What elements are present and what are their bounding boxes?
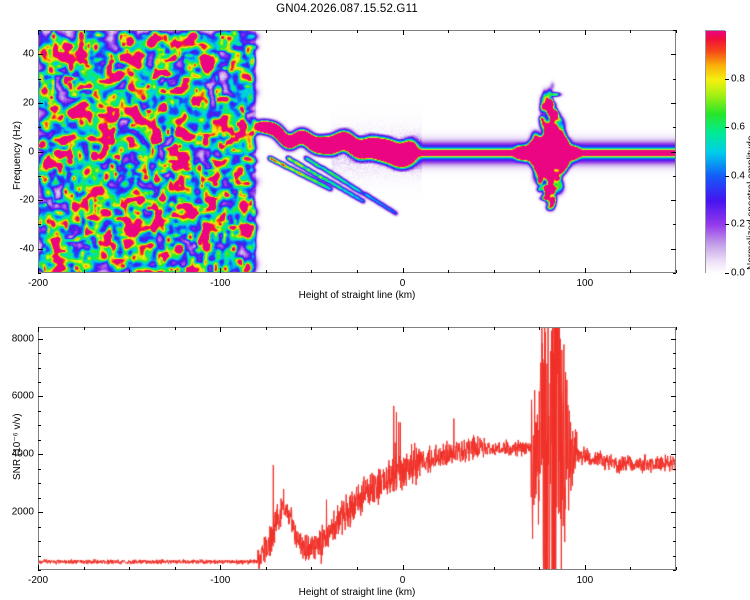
colorbar-tick (725, 127, 729, 128)
y-minor-tick (673, 30, 676, 31)
x-minor-tick (539, 270, 540, 273)
y-minor-tick (673, 527, 676, 528)
y-minor-tick (673, 541, 676, 542)
colorbar-tick (725, 176, 729, 177)
y-minor-tick (673, 469, 676, 470)
y-minor-tick (38, 469, 41, 470)
x-tick (585, 565, 586, 570)
y-tick (671, 339, 676, 340)
x-tick (220, 268, 221, 273)
x-tick-label: 100 (577, 278, 594, 289)
x-minor-tick (539, 567, 540, 570)
x-minor-tick (84, 30, 85, 33)
y-minor-tick (38, 527, 41, 528)
y-minor-tick (38, 440, 41, 441)
y-tick-label: 2000 (4, 507, 34, 518)
snr-plot-area (39, 328, 675, 569)
x-minor-tick (175, 30, 176, 33)
spectrogram-panel (38, 30, 676, 273)
y-minor-tick (673, 570, 676, 571)
x-minor-tick (630, 270, 631, 273)
x-minor-tick (539, 30, 540, 33)
colorbar-tick-label: 0.0 (731, 268, 745, 279)
y-tick (671, 249, 676, 250)
y-tick-label: -20 (4, 195, 34, 206)
y-minor-tick (673, 556, 676, 557)
colorbar-tick-label: 0.2 (731, 219, 745, 230)
figure-title: GN04.2026.087.15.52.G11 (0, 3, 694, 15)
y-tick (671, 454, 676, 455)
y-minor-tick (673, 425, 676, 426)
x-minor-tick (266, 270, 267, 273)
x-minor-tick (129, 30, 130, 33)
colorbar-tick (725, 273, 729, 274)
y-tick-label: 40 (4, 49, 34, 60)
x-minor-tick (266, 30, 267, 33)
y-minor-tick (673, 353, 676, 354)
y-tick-label: 6000 (4, 391, 34, 402)
x-minor-tick (175, 567, 176, 570)
x-minor-tick (630, 30, 631, 33)
x-minor-tick (129, 327, 130, 330)
y-minor-tick (673, 411, 676, 412)
y-minor-tick (673, 368, 676, 369)
y-minor-tick (38, 425, 41, 426)
snr-panel (38, 327, 676, 570)
y-minor-tick (38, 273, 41, 274)
y-tick-label: 8000 (4, 333, 34, 344)
y-minor-tick (38, 556, 41, 557)
x-tick (585, 30, 586, 35)
x-minor-tick (311, 30, 312, 33)
snr-xaxis-label: Height of straight line (km) (299, 587, 416, 598)
y-minor-tick (38, 483, 41, 484)
y-minor-tick (673, 79, 676, 80)
colorbar-tick (725, 79, 729, 80)
y-minor-tick (38, 368, 41, 369)
y-tick (38, 200, 43, 201)
colorbar-tick-label: 0.4 (731, 170, 745, 181)
x-minor-tick (175, 327, 176, 330)
x-minor-tick (448, 270, 449, 273)
y-tick (38, 454, 43, 455)
x-minor-tick (357, 567, 358, 570)
x-minor-tick (494, 30, 495, 33)
x-minor-tick (676, 327, 677, 330)
x-tick-label: -200 (28, 575, 48, 586)
x-minor-tick (676, 270, 677, 273)
x-tick (38, 327, 39, 332)
x-minor-tick (630, 327, 631, 330)
x-minor-tick (676, 567, 677, 570)
spectrogram-image (39, 31, 675, 272)
x-minor-tick (448, 327, 449, 330)
x-minor-tick (494, 327, 495, 330)
x-minor-tick (630, 567, 631, 570)
x-tick (403, 268, 404, 273)
y-minor-tick (38, 176, 41, 177)
x-minor-tick (539, 327, 540, 330)
x-tick (220, 565, 221, 570)
y-tick (671, 396, 676, 397)
x-tick-label: -200 (28, 278, 48, 289)
y-minor-tick (38, 411, 41, 412)
x-tick-label: 100 (577, 575, 594, 586)
y-minor-tick (673, 483, 676, 484)
x-minor-tick (448, 30, 449, 33)
y-tick (671, 152, 676, 153)
x-minor-tick (84, 270, 85, 273)
x-tick (585, 268, 586, 273)
y-minor-tick (38, 498, 41, 499)
y-tick (671, 54, 676, 55)
snr-trace (39, 328, 675, 569)
x-minor-tick (357, 30, 358, 33)
y-tick (671, 200, 676, 201)
x-minor-tick (357, 270, 358, 273)
y-minor-tick (38, 570, 41, 571)
x-tick-label: -100 (210, 575, 230, 586)
colorbar (705, 30, 725, 273)
spectrogram-xaxis-label: Height of straight line (km) (299, 290, 416, 301)
y-minor-tick (38, 30, 41, 31)
colorbar-tick (725, 224, 729, 225)
y-minor-tick (38, 79, 41, 80)
y-tick (38, 152, 43, 153)
colorbar-label: Normalized spectral amplitude (746, 135, 750, 270)
spectrogram-yaxis-label: Frequency (Hz) (12, 121, 23, 190)
colorbar-gradient (706, 31, 726, 274)
spectrogram-plot-area (39, 31, 675, 272)
y-minor-tick (673, 176, 676, 177)
y-tick (38, 54, 43, 55)
x-minor-tick (84, 327, 85, 330)
y-minor-tick (673, 382, 676, 383)
y-minor-tick (673, 273, 676, 274)
y-tick (38, 512, 43, 513)
colorbar-tick-label: 0.8 (731, 73, 745, 84)
x-minor-tick (311, 327, 312, 330)
x-minor-tick (311, 270, 312, 273)
y-tick (38, 339, 43, 340)
y-minor-tick (673, 224, 676, 225)
x-tick (585, 327, 586, 332)
y-minor-tick (673, 498, 676, 499)
x-minor-tick (266, 327, 267, 330)
y-tick (671, 512, 676, 513)
x-tick-label: 0 (400, 278, 406, 289)
y-tick (38, 396, 43, 397)
x-minor-tick (175, 270, 176, 273)
x-tick (403, 30, 404, 35)
y-tick-label: -40 (4, 243, 34, 254)
y-minor-tick (673, 127, 676, 128)
x-minor-tick (494, 567, 495, 570)
x-tick-label: -100 (210, 278, 230, 289)
x-minor-tick (84, 567, 85, 570)
x-minor-tick (129, 567, 130, 570)
x-tick (220, 327, 221, 332)
y-minor-tick (38, 353, 41, 354)
y-tick (671, 103, 676, 104)
x-minor-tick (448, 567, 449, 570)
y-tick (38, 103, 43, 104)
x-minor-tick (311, 567, 312, 570)
x-minor-tick (676, 30, 677, 33)
x-tick (403, 327, 404, 332)
y-minor-tick (38, 541, 41, 542)
y-minor-tick (38, 224, 41, 225)
colorbar-tick-label: 0.6 (731, 122, 745, 133)
x-minor-tick (129, 270, 130, 273)
y-minor-tick (38, 382, 41, 383)
snr-yaxis-label: SNR (10⁻⁶ v/v) (12, 413, 23, 480)
figure-root: GN04.2026.087.15.52.G11 -200-10001004020… (0, 0, 750, 600)
y-minor-tick (673, 440, 676, 441)
y-tick (38, 249, 43, 250)
y-minor-tick (38, 127, 41, 128)
x-minor-tick (266, 567, 267, 570)
x-tick (220, 30, 221, 35)
x-minor-tick (494, 270, 495, 273)
x-tick-label: 0 (400, 575, 406, 586)
x-tick (403, 565, 404, 570)
x-minor-tick (357, 327, 358, 330)
y-tick-label: 20 (4, 97, 34, 108)
